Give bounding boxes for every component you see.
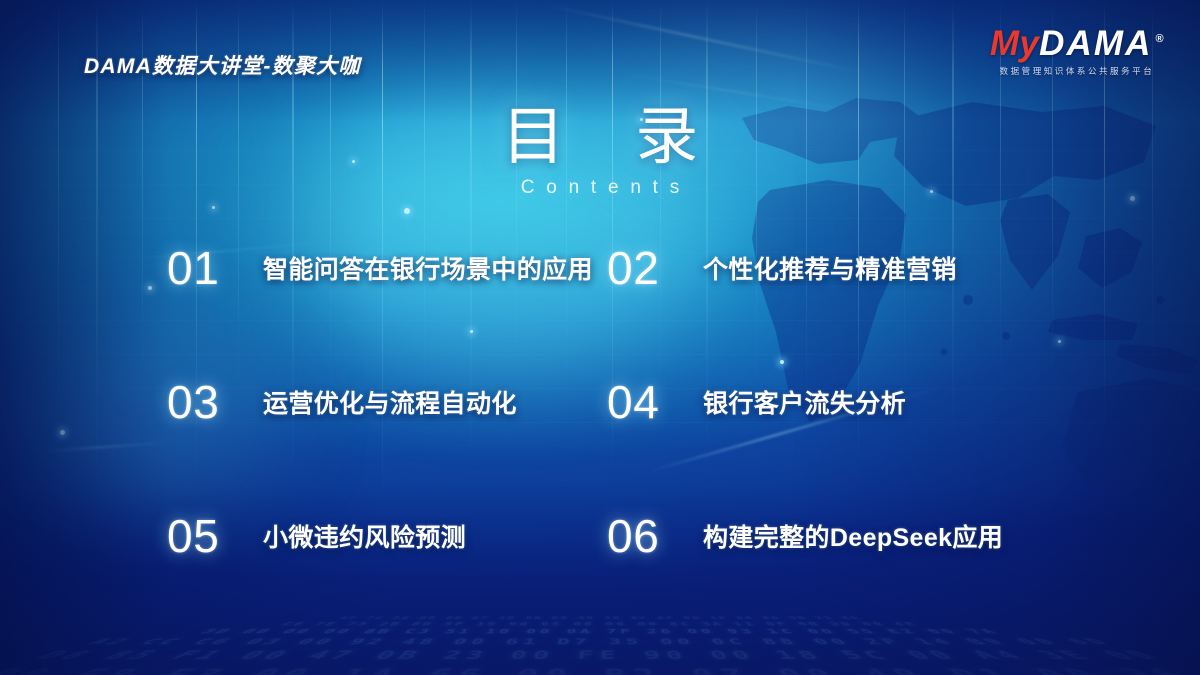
toc-item-label: 银行客户流失分析 (703, 384, 906, 420)
toc-item-06[interactable]: 06 构建完整的DeepSeek应用 (607, 500, 1047, 572)
toc-number: 06 (607, 513, 681, 559)
table-of-contents: 01 智能问答在银行场景中的应用 02 个性化推荐与精准营销 03 运营优化与流… (0, 232, 1200, 572)
toc-item-02[interactable]: 02 个性化推荐与精准营销 (607, 232, 1047, 304)
toc-number: 05 (167, 513, 241, 559)
toc-number: 03 (167, 379, 241, 425)
mydama-logo: MyDAMA® 数据管理知识体系公共服务平台 (990, 26, 1164, 76)
toc-item-label: 运营优化与流程自动化 (263, 384, 517, 420)
title-chinese: 目 录 (0, 104, 1200, 171)
toc-item-03[interactable]: 03 运营优化与流程自动化 (167, 366, 607, 438)
slide-content: DAMA数据大讲堂-数聚大咖 MyDAMA® 数据管理知识体系公共服务平台 目 … (0, 0, 1200, 675)
toc-item-label: 个性化推荐与精准营销 (703, 250, 957, 286)
toc-item-04[interactable]: 04 银行客户流失分析 (607, 366, 1047, 438)
page-title: 目 录 Contents (0, 104, 1200, 199)
toc-item-label: 智能问答在银行场景中的应用 (263, 250, 593, 286)
toc-number: 01 (167, 245, 241, 291)
toc-item-01[interactable]: 01 智能问答在银行场景中的应用 (167, 232, 607, 304)
toc-number: 02 (607, 245, 681, 291)
slide-kicker: DAMA数据大讲堂-数聚大咖 (84, 50, 361, 80)
toc-item-label: 构建完整的DeepSeek应用 (703, 518, 1003, 554)
logo-wordmark: MyDAMA® (990, 26, 1164, 61)
logo-subtitle: 数据管理知识体系公共服务平台 (990, 67, 1164, 76)
title-english: Contents (0, 177, 1200, 199)
toc-item-label: 小微违约风险预测 (263, 518, 466, 554)
logo-dama-text: DAMA (1039, 24, 1152, 63)
registered-trademark-icon: ® (1156, 33, 1164, 45)
presentation-slide: 4F 7C 2A 00 0E 67 1D 00 00 99 3B 0C AF 0… (0, 0, 1200, 675)
toc-item-05[interactable]: 05 小微违约风险预测 (167, 500, 607, 572)
logo-my-text: My (990, 24, 1039, 63)
toc-number: 04 (607, 379, 681, 425)
